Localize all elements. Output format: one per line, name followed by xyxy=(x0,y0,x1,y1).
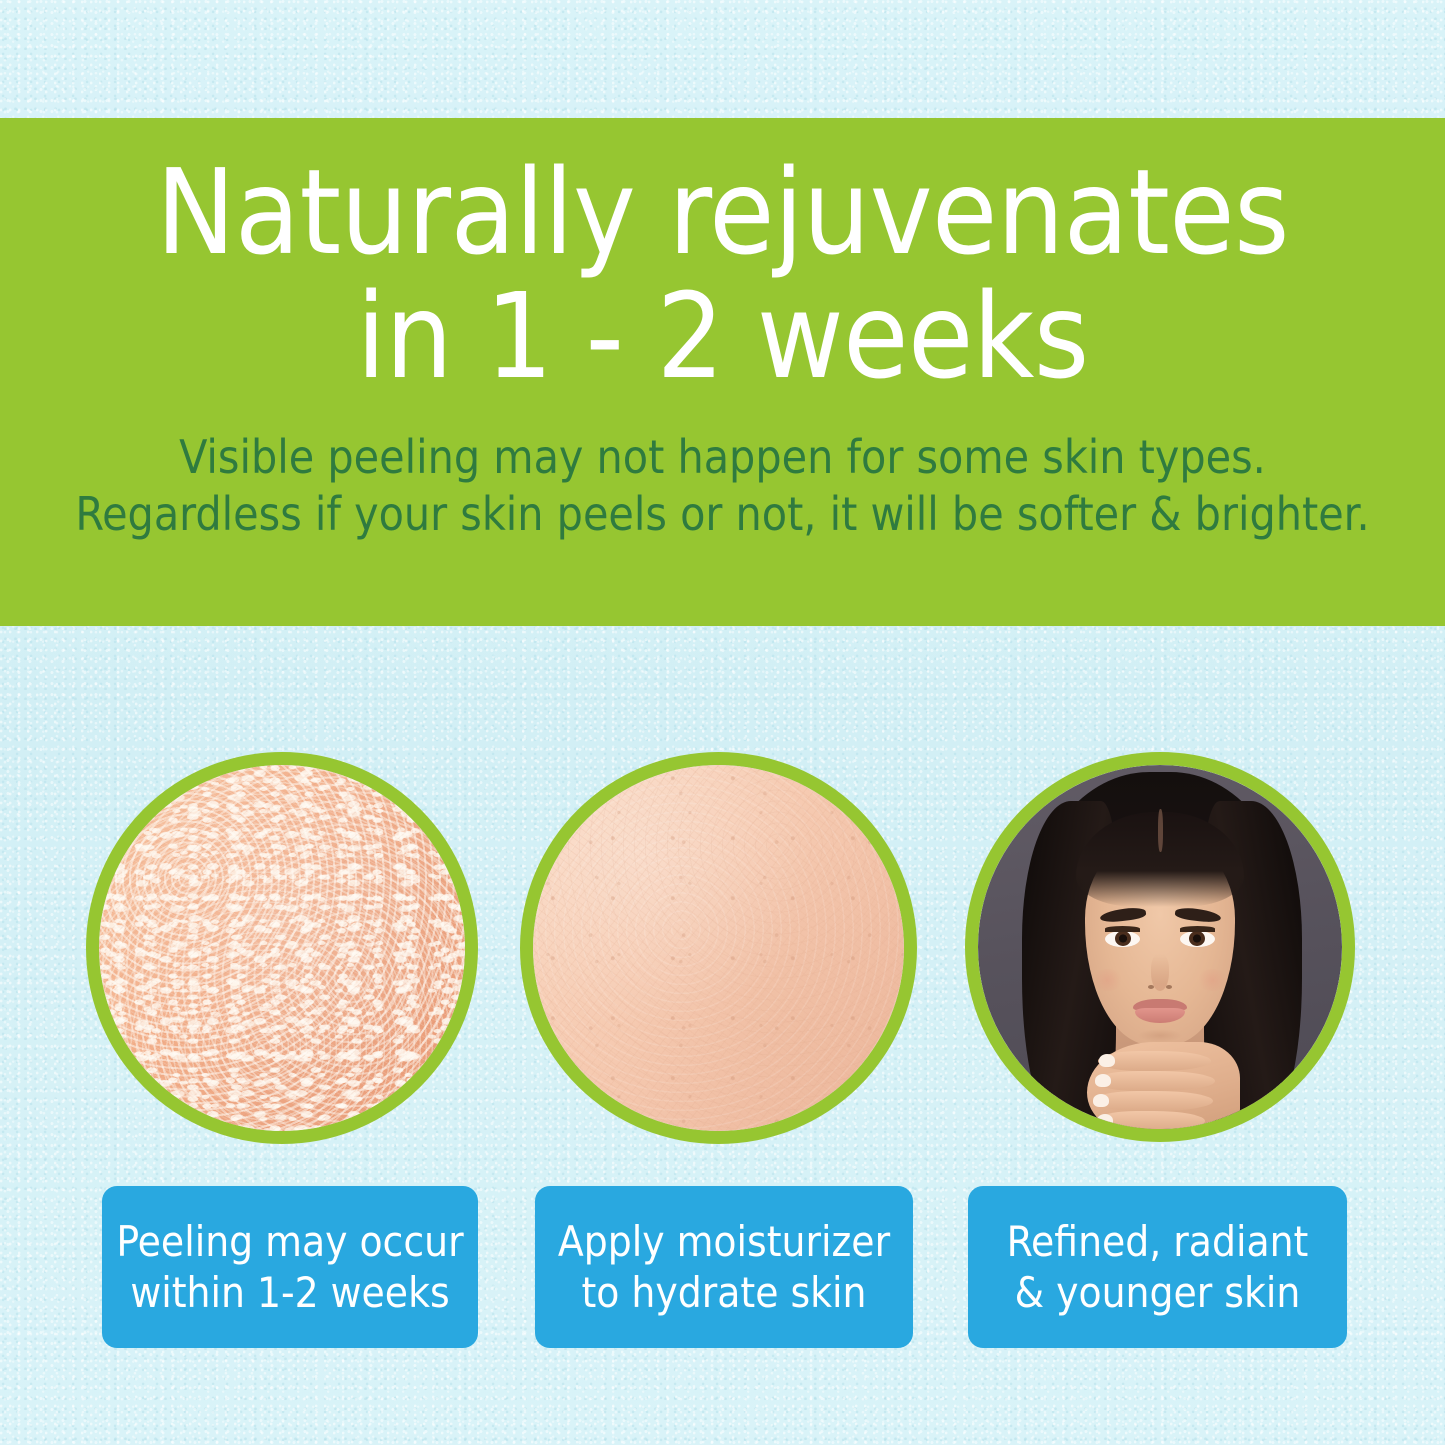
caption-text-1: Peeling may occur within 1-2 weeks xyxy=(108,1216,471,1318)
caption-3-line-2: & younger skin xyxy=(1007,1267,1309,1318)
step-image-peeling-skin xyxy=(86,752,478,1144)
iris-left xyxy=(1115,931,1131,946)
headline-line-2: in 1 - 2 weeks xyxy=(156,276,1289,396)
eyelid-right xyxy=(1180,926,1215,931)
step-image-model-portrait xyxy=(965,752,1355,1142)
caption-1-line-1: Peeling may occur xyxy=(116,1216,463,1267)
caption-1-line-2: within 1-2 weeks xyxy=(116,1267,463,1318)
caption-text-3: Refined, radiant & younger skin xyxy=(999,1216,1317,1318)
hydrated-skin-closeup-photo xyxy=(533,765,904,1131)
fingernail-4 xyxy=(1097,1114,1113,1127)
fingernail-1 xyxy=(1099,1054,1115,1067)
headline-line-1: Naturally rejuvenates xyxy=(156,152,1289,272)
model-portrait-photo xyxy=(978,765,1342,1129)
caption-2-line-1: Apply moisturizer xyxy=(558,1216,890,1267)
cheek-left xyxy=(1091,969,1124,991)
finger-2 xyxy=(1094,1071,1214,1091)
fingernail-2 xyxy=(1095,1074,1111,1087)
finger-1 xyxy=(1098,1051,1211,1071)
finger-3 xyxy=(1093,1091,1213,1111)
step-caption-results: Refined, radiant & younger skin xyxy=(968,1186,1347,1348)
subtitle-block: Visible peeling may not happen for some … xyxy=(75,429,1369,544)
fingernail-3 xyxy=(1093,1094,1109,1107)
subtitle-line-2: Regardless if your skin peels or not, it… xyxy=(75,486,1369,544)
cheek-right xyxy=(1196,969,1229,991)
nostril-left xyxy=(1148,985,1154,989)
infographic-poster: Naturally rejuvenates in 1 - 2 weeks Vis… xyxy=(0,0,1445,1445)
headline-banner: Naturally rejuvenates in 1 - 2 weeks Vis… xyxy=(0,118,1445,626)
step-caption-moisturize: Apply moisturizer to hydrate skin xyxy=(535,1186,913,1348)
hair-part xyxy=(1158,809,1163,853)
step-image-hydrated-skin xyxy=(520,752,917,1144)
headline-block: Naturally rejuvenates in 1 - 2 weeks xyxy=(156,152,1289,397)
caption-2-line-2: to hydrate skin xyxy=(558,1267,890,1318)
step-caption-peeling: Peeling may occur within 1-2 weeks xyxy=(102,1186,478,1348)
caption-3-line-1: Refined, radiant xyxy=(1007,1216,1309,1267)
chin-shadow xyxy=(1138,1029,1182,1042)
eyelid-left xyxy=(1105,926,1140,931)
caption-text-2: Apply moisturizer to hydrate skin xyxy=(550,1216,898,1318)
subtitle-line-1: Visible peeling may not happen for some … xyxy=(75,429,1369,487)
peeling-skin-closeup-photo xyxy=(99,765,465,1131)
